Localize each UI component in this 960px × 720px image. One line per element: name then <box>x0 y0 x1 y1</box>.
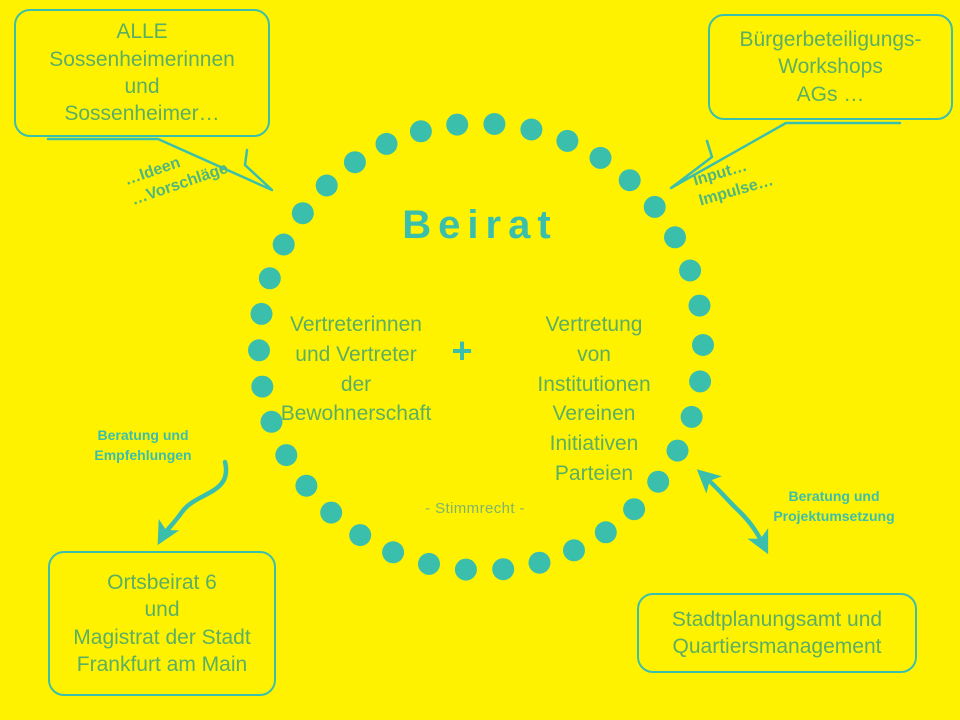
label-beratung-projektumsetzung: Beratung und Projektumsetzung <box>744 487 924 527</box>
beirat-members-right-column: Vertretung von Institutionen Vereinen In… <box>490 310 698 489</box>
box-stadtplanungsamt-text: Stadtplanungsamt und Quartiersmanagement <box>639 606 915 661</box>
label-beratung-empfehlungen: Beratung und Empfehlungen <box>68 426 218 466</box>
arrow-beratung-empfehlungen <box>161 462 226 539</box>
speech-bubble-workshops-text: Bürgerbeteiligungs- Workshops AGs … <box>710 26 951 108</box>
speech-bubble-alle-sossenheimer[interactable]: ALLE Sossenheimerinnen und Sossenheimer… <box>14 9 270 137</box>
box-stadtplanungsamt[interactable]: Stadtplanungsamt und Quartiersmanagement <box>637 593 917 673</box>
box-ortsbeirat-text: Ortsbeirat 6 und Magistrat der Stadt Fra… <box>50 569 274 678</box>
speech-bubble-alle-text: ALLE Sossenheimerinnen und Sossenheimer… <box>16 18 268 127</box>
page-title: Beirat <box>0 203 960 248</box>
stimmrecht-note: - Stimmrecht - <box>350 500 600 517</box>
plus-icon: + <box>441 330 483 372</box>
speech-bubble-buergerbeteiligungs-workshops[interactable]: Bürgerbeteiligungs- Workshops AGs … <box>708 14 953 120</box>
box-ortsbeirat[interactable]: Ortsbeirat 6 und Magistrat der Stadt Fra… <box>48 551 276 696</box>
beirat-members-left-column: Vertreterinnen und Vertreter der Bewohne… <box>252 310 460 429</box>
diagram-canvas: ALLE Sossenheimerinnen und Sossenheimer…… <box>0 0 960 720</box>
label-ideen-vorschlaege: …Ideen …Vorschläge <box>122 139 231 211</box>
